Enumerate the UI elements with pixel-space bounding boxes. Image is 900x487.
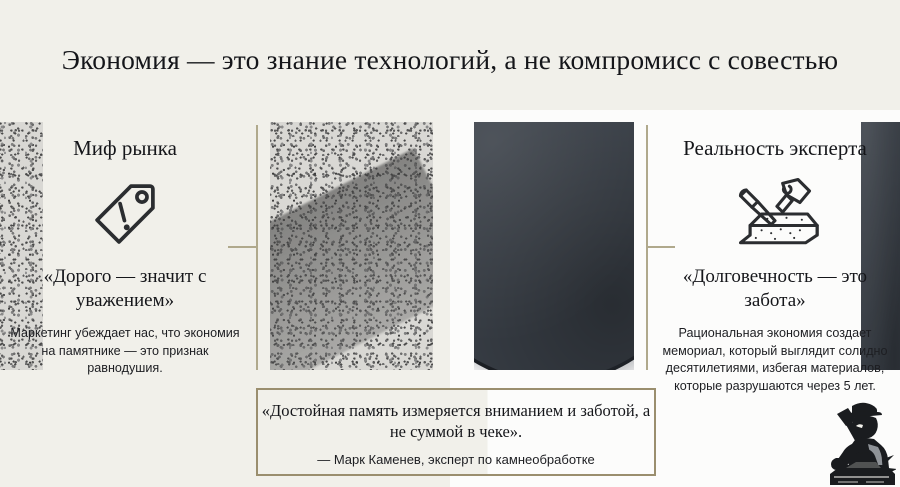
quote-card-text: «Достойная память измеряется вниманием и… <box>258 400 654 443</box>
quote-card: «Достойная память измеряется вниманием и… <box>256 388 656 476</box>
column-myth-heading: Миф рынка <box>10 136 240 161</box>
page-title: Экономия — это знание технологий, а не к… <box>0 44 900 76</box>
slate-disc-face <box>474 122 634 370</box>
column-myth: Миф рынка «Дорого — значит с уважением» … <box>10 136 240 378</box>
column-reality-heading: Реальность эксперта <box>660 136 890 161</box>
hammer-chisel-stone-icon <box>660 177 890 251</box>
divider-vertical-right <box>646 125 648 370</box>
column-reality-body: Рациональная экономия создает мемориал, … <box>660 325 890 397</box>
column-reality: Реальность эксперта <box>660 136 890 396</box>
column-myth-body: Маркетинг убеждает нас, что экономия на … <box>10 325 240 379</box>
stonemason-illustration <box>800 396 896 487</box>
slide-canvas: Экономия — это знание технологий, а не к… <box>0 0 900 487</box>
photo-granite-slab <box>270 122 433 370</box>
column-reality-quote: «Долговечность — это забота» <box>660 265 890 313</box>
column-myth-quote: «Дорого — значит с уважением» <box>10 265 240 313</box>
photo-slate-disc <box>474 122 634 370</box>
quote-card-author: — Марк Каменев, эксперт по камнеобработк… <box>258 452 654 467</box>
price-tag-exclamation-icon <box>10 177 240 251</box>
divider-vertical-left <box>256 125 258 370</box>
